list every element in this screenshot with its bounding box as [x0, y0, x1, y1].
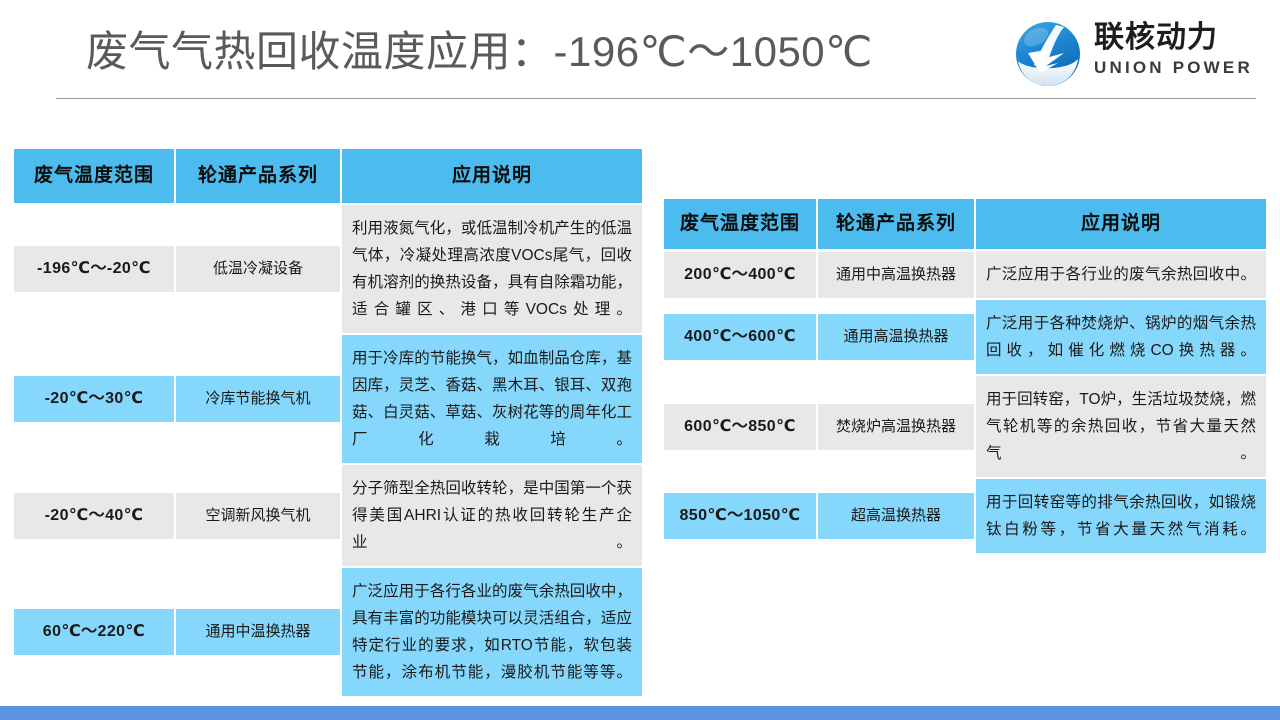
cell-temperature-range: -20℃～40℃ — [14, 493, 174, 539]
column-header-temperature-range: 废气温度范围 — [664, 199, 816, 249]
cell-application: 用于回转窑等的排气余热回收，如锻烧钛白粉等，节省大量天然气消耗。 — [976, 479, 1266, 553]
cell-application: 广泛应用于各行各业的废气余热回收中，具有丰富的功能模块可以灵活组合，适应特定行业… — [342, 568, 642, 696]
cell-temperature-range: 60℃～220℃ — [14, 609, 174, 655]
cell-product-series: 冷库节能换气机 — [176, 376, 340, 422]
column-header-application: 应用说明 — [342, 149, 642, 203]
cell-product-series: 通用高温换热器 — [818, 314, 974, 360]
cell-temperature-range: 400℃～600℃ — [664, 314, 816, 360]
table-row: -20℃～30℃ 冷库节能换气机 用于冷库的节能换气，如血制品仓库，基因库，灵芝… — [14, 335, 642, 463]
table-row: 60℃～220℃ 通用中温换热器 广泛应用于各行各业的废气余热回收中，具有丰富的… — [14, 568, 642, 696]
logo-name-en: UNION POWER — [1094, 58, 1253, 77]
slide-header: 废气气热回收温度应用：-196℃～1050℃ — [0, 0, 1280, 100]
cell-product-series: 超高温换热器 — [818, 493, 974, 539]
cell-application: 利用液氮气化，或低温制冷机产生的低温气体，冷凝处理高浓度VOCs尾气，回收有机溶… — [342, 205, 642, 333]
table-row: 600℃～850℃ 焚烧炉高温换热器 用于回转窑，TO炉，生活垃圾焚烧，燃气轮机… — [664, 376, 1266, 477]
waste-gas-table-left: 废气温度范围 轮通产品系列 应用说明 -196℃～-20℃ 低温冷凝设备 利用液… — [12, 147, 644, 698]
logo-wordmark: 联核动力 UNION POWER — [1094, 20, 1270, 80]
cell-application: 广泛用于各种焚烧炉、锅炉的烟气余热回收，如催化燃烧CO换热器。 — [976, 300, 1266, 374]
cell-application: 用于回转窑，TO炉，生活垃圾焚烧，燃气轮机等的余热回收，节省大量天然气。 — [976, 376, 1266, 477]
table-header-row: 废气温度范围 轮通产品系列 应用说明 — [664, 199, 1266, 249]
cell-temperature-range: 850℃～1050℃ — [664, 493, 816, 539]
cell-application: 用于冷库的节能换气，如血制品仓库，基因库，灵芝、香菇、黑木耳、银耳、双孢菇、白灵… — [342, 335, 642, 463]
table-row: -196℃～-20℃ 低温冷凝设备 利用液氮气化，或低温制冷机产生的低温气体，冷… — [14, 205, 642, 333]
column-header-application: 应用说明 — [976, 199, 1266, 249]
waste-gas-table-right: 废气温度范围 轮通产品系列 应用说明 200℃～400℃ 通用中高温换热器 广泛… — [662, 197, 1268, 555]
column-header-product-series: 轮通产品系列 — [176, 149, 340, 203]
footer-accent-bar — [0, 706, 1280, 720]
cell-product-series: 通用中温换热器 — [176, 609, 340, 655]
cell-product-series: 低温冷凝设备 — [176, 246, 340, 292]
title-divider — [56, 98, 1256, 99]
page-title: 废气气热回收温度应用：-196℃～1050℃ — [86, 25, 873, 79]
cell-product-series: 空调新风换气机 — [176, 493, 340, 539]
table-row: -20℃～40℃ 空调新风换气机 分子筛型全热回收转轮，是中国第一个获得美国AH… — [14, 465, 642, 566]
cell-application: 广泛应用于各行业的废气余热回收中。 — [976, 251, 1266, 298]
column-header-product-series: 轮通产品系列 — [818, 199, 974, 249]
column-header-temperature-range: 废气温度范围 — [14, 149, 174, 203]
union-power-globe-icon — [1012, 19, 1084, 91]
table-row: 850℃～1050℃ 超高温换热器 用于回转窑等的排气余热回收，如锻烧钛白粉等，… — [664, 479, 1266, 553]
table-row: 200℃～400℃ 通用中高温换热器 广泛应用于各行业的废气余热回收中。 — [664, 251, 1266, 298]
table-header-row: 废气温度范围 轮通产品系列 应用说明 — [14, 149, 642, 203]
cell-application: 分子筛型全热回收转轮，是中国第一个获得美国AHRI认证的热收回转轮生产企业。 — [342, 465, 642, 566]
cell-temperature-range: 600℃～850℃ — [664, 404, 816, 450]
cell-product-series: 通用中高温换热器 — [818, 252, 974, 298]
cell-temperature-range: 200℃～400℃ — [664, 252, 816, 298]
cell-temperature-range: -20℃～30℃ — [14, 376, 174, 422]
table-row: 400℃～600℃ 通用高温换热器 广泛用于各种焚烧炉、锅炉的烟气余热回收，如催… — [664, 300, 1266, 374]
company-logo: 联核动力 UNION POWER — [1012, 18, 1268, 92]
logo-name-cn: 联核动力 — [1094, 21, 1218, 54]
cell-product-series: 焚烧炉高温换热器 — [818, 404, 974, 450]
cell-temperature-range: -196℃～-20℃ — [14, 246, 174, 292]
